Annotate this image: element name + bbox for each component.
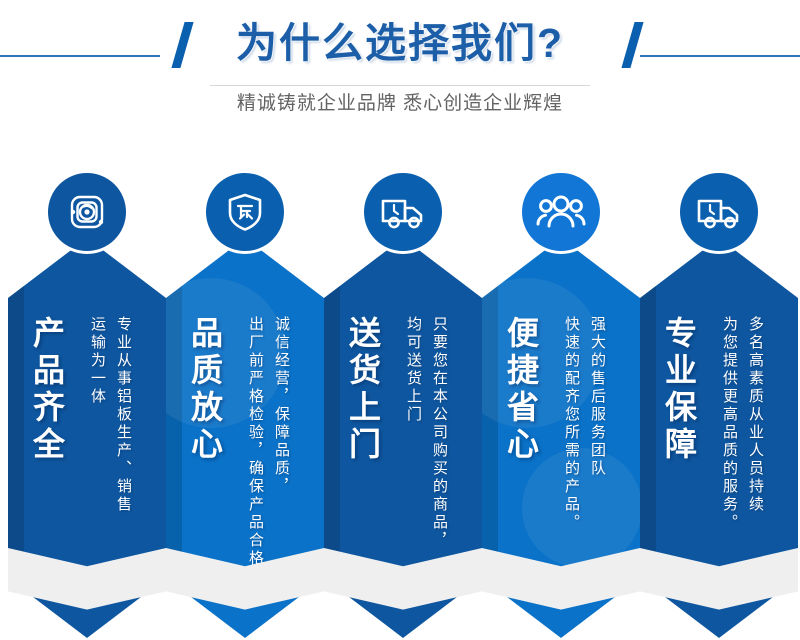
panel-shadow <box>640 548 798 618</box>
panel-shadow <box>8 548 166 618</box>
panel-shadow <box>482 548 640 618</box>
panel-desc-line2-3: 均可送货上门 <box>402 316 424 424</box>
panel-shadow <box>166 548 324 618</box>
panel-desc-line1-4: 强大的售后服务团队 <box>586 316 608 478</box>
panel-shadow <box>324 548 482 618</box>
panel-desc-line2-1: 运输为一体 <box>86 316 108 406</box>
feature-badge-5[interactable] <box>677 170 761 254</box>
feature-badge-4[interactable] <box>519 170 603 254</box>
page-subtitle: 精诚铸就企业品牌 悉心创造企业辉煌 <box>0 90 800 118</box>
panel-title-3: 送货上门 <box>340 316 386 464</box>
panel-desc-line1-5: 多名高素质从业人员持续 <box>744 316 766 514</box>
panel-desc-line2-5: 为您提供更高品质的服务。 <box>718 316 740 532</box>
panel-desc-line2-4: 快速的配齐您所需的产品。 <box>560 316 582 532</box>
panel-desc-line2-2: 出厂前严格检验，确保产品合格 <box>244 316 266 568</box>
delivery-truck-icon <box>694 189 744 235</box>
panel-title-2: 品质放心 <box>182 316 228 464</box>
safe-box-icon <box>64 189 110 235</box>
feature-badge-3[interactable] <box>361 170 445 254</box>
panel-title-5: 专业保障 <box>656 316 702 464</box>
panel-title-1: 产品齐全 <box>24 316 70 464</box>
panel-title-4: 便捷省心 <box>498 316 544 464</box>
shield-quality-icon <box>222 189 268 235</box>
subtitle-divider <box>210 85 590 86</box>
panel-desc-line1-2: 诚信经营，保障品质， <box>270 316 292 496</box>
panel-desc-line1-1: 专业从事铝板生产、销售 <box>112 316 134 514</box>
promo-banner: 为什么选择我们? 精诚铸就企业品牌 悉心创造企业辉煌 产品齐全 专业从事铝板生产… <box>0 0 800 640</box>
floor-shadow-row <box>0 548 800 640</box>
feature-badge-2[interactable] <box>203 170 287 254</box>
feature-badge-1[interactable] <box>45 170 129 254</box>
banner-header: 为什么选择我们? 精诚铸就企业品牌 悉心创造企业辉煌 <box>0 0 800 135</box>
page-title: 为什么选择我们? <box>0 14 800 72</box>
delivery-truck-icon <box>378 189 428 235</box>
panel-desc-line1-3: 只要您在本公司购买的商品， <box>428 316 450 550</box>
people-group-icon <box>536 190 586 234</box>
